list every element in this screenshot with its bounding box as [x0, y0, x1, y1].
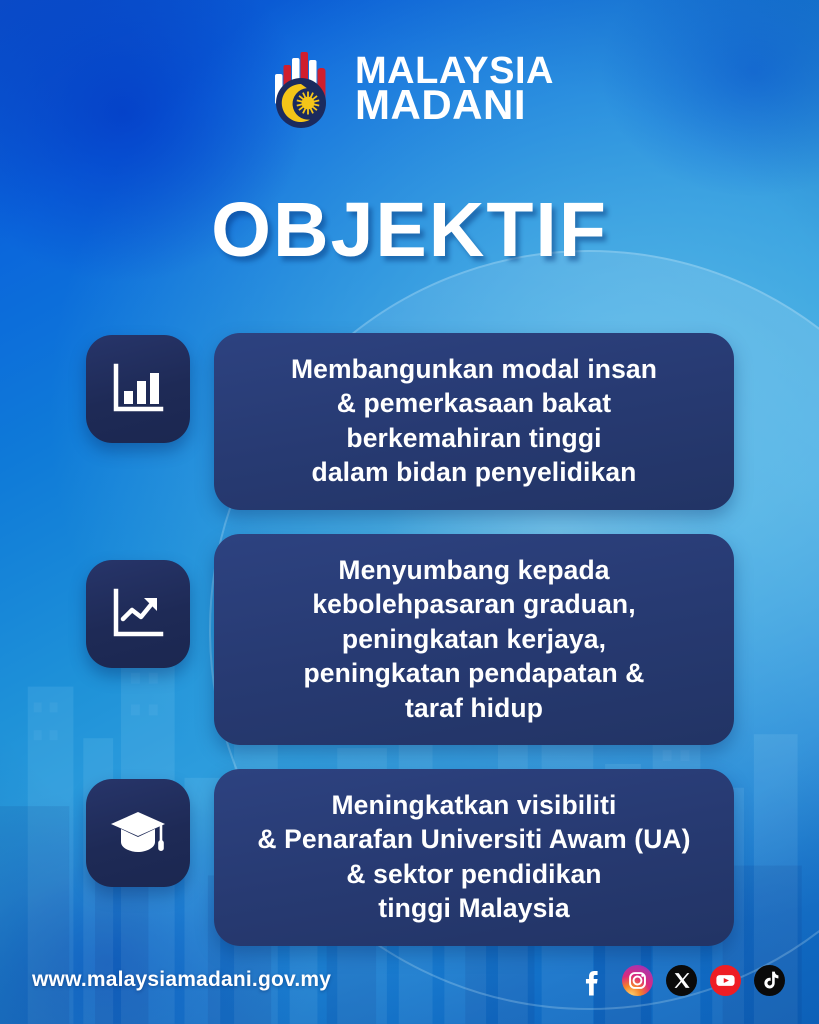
- objective-line: tinggi Malaysia: [236, 891, 712, 925]
- bar-chart-icon: [111, 363, 165, 415]
- objective-line: peningkatan pendapatan &: [236, 656, 712, 690]
- objective-card: Membangunkan modal insan & pemerkasaan b…: [214, 333, 734, 510]
- line-chart-up-icon: [111, 588, 165, 640]
- poster-root: MALAYSIA MADANI OBJEKTIF Membangunkan mo…: [0, 0, 819, 1024]
- objective-card: Meningkatkan visibiliti & Penarafan Univ…: [214, 769, 734, 946]
- objective-row: Menyumbang kepada kebolehpasaran graduan…: [86, 534, 734, 745]
- objective-line: berkemahiran tinggi: [236, 421, 712, 455]
- website-url[interactable]: www.malaysiamadani.gov.my: [32, 968, 331, 992]
- objective-line: taraf hidup: [236, 691, 712, 725]
- malaysia-madani-logo-icon: [265, 48, 341, 130]
- brand-logo: MALAYSIA MADANI: [0, 48, 819, 130]
- instagram-icon[interactable]: [622, 965, 653, 996]
- objective-line: & Penarafan Universiti Awam (UA): [236, 822, 712, 856]
- objective-line: peningkatan kerjaya,: [236, 622, 712, 656]
- footer-bar: www.malaysiamadani.gov.my: [0, 936, 819, 1024]
- objective-line: Meningkatkan visibiliti: [236, 788, 712, 822]
- objectives-list: Membangunkan modal insan & pemerkasaan b…: [86, 333, 734, 970]
- brand-line-2: MADANI: [355, 87, 554, 123]
- objective-line: & pemerkasaan bakat: [236, 386, 712, 420]
- objective-icon-container: [86, 560, 190, 668]
- objective-line: dalam bidan penyelidikan: [236, 455, 712, 489]
- graduation-cap-icon: [109, 808, 167, 858]
- objective-icon-container: [86, 335, 190, 443]
- tiktok-icon[interactable]: [754, 965, 785, 996]
- social-links: [578, 965, 785, 996]
- objective-line: & sektor pendidikan: [236, 857, 712, 891]
- youtube-icon[interactable]: [710, 965, 741, 996]
- facebook-icon[interactable]: [578, 965, 609, 996]
- objective-line: Membangunkan modal insan: [236, 352, 712, 386]
- brand-wordmark: MALAYSIA MADANI: [355, 55, 554, 124]
- objective-card: Menyumbang kepada kebolehpasaran graduan…: [214, 534, 734, 745]
- objective-row: Meningkatkan visibiliti & Penarafan Univ…: [86, 769, 734, 946]
- objective-row: Membangunkan modal insan & pemerkasaan b…: [86, 333, 734, 510]
- objective-icon-container: [86, 779, 190, 887]
- objective-line: Menyumbang kepada: [236, 553, 712, 587]
- page-title: OBJEKTIF: [0, 186, 819, 275]
- objective-line: kebolehpasaran graduan,: [236, 587, 712, 621]
- x-twitter-icon[interactable]: [666, 965, 697, 996]
